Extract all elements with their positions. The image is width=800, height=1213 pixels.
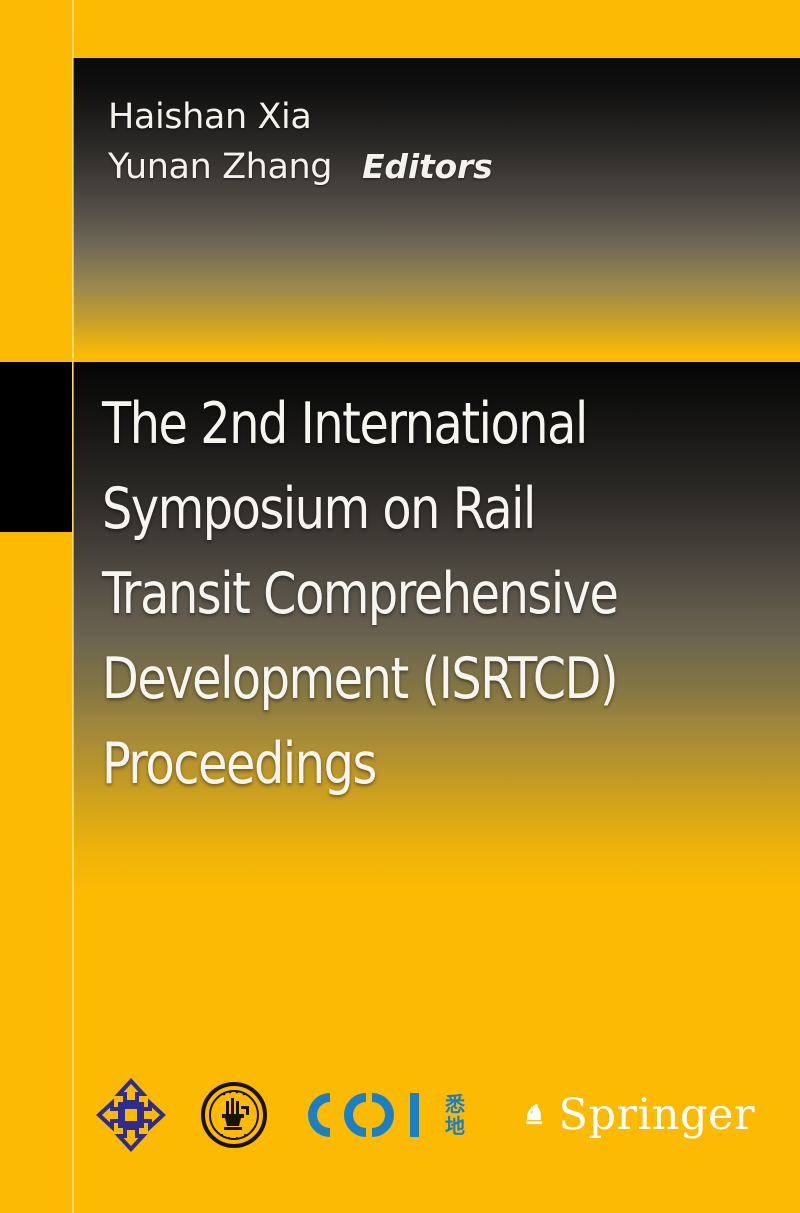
author-name-second: Yunan Zhang <box>108 147 332 187</box>
title-line-1: The 2nd International <box>102 382 697 467</box>
title-line-5: Proceedings <box>102 722 697 807</box>
ccdi-mark-icon <box>300 1089 436 1141</box>
author-name-first: Haishan Xia <box>108 92 493 142</box>
editors-label: Editors <box>362 147 492 186</box>
authors-block: Haishan Xia Yunan ZhangEditors <box>108 92 493 192</box>
book-title: The 2nd International Symposium on Rail … <box>102 382 742 807</box>
logo-row: 悉 地 Springer <box>95 1075 755 1165</box>
title-line-4: Development (ISRTCD) <box>102 637 697 722</box>
ccdi-hanzi-top: 悉 <box>445 1093 465 1115</box>
book-cover: Haishan Xia Yunan ZhangEditors The 2nd I… <box>0 0 800 1213</box>
ccdi-hanzi-bottom: 地 <box>445 1115 465 1137</box>
title-line-2: Symposium on Rail <box>102 467 697 552</box>
geometric-emblem-logo <box>95 1075 167 1155</box>
spine-hinge-line <box>72 0 74 1213</box>
springer-wordmark: Springer <box>558 1094 755 1137</box>
spine-black-block <box>0 362 72 532</box>
springer-knight-icon <box>525 1084 546 1146</box>
title-line-3: Transit Comprehensive <box>102 552 697 637</box>
springer-logo: Springer <box>525 1075 755 1155</box>
ccdi-hanzi-block: 悉 地 <box>445 1093 465 1137</box>
university-seal-icon <box>198 1075 270 1155</box>
ccdi-logo: 悉 地 <box>300 1075 500 1155</box>
university-seal-logo <box>198 1075 270 1155</box>
author-name-second-row: Yunan ZhangEditors <box>108 142 493 192</box>
geometric-emblem-icon <box>95 1075 167 1155</box>
